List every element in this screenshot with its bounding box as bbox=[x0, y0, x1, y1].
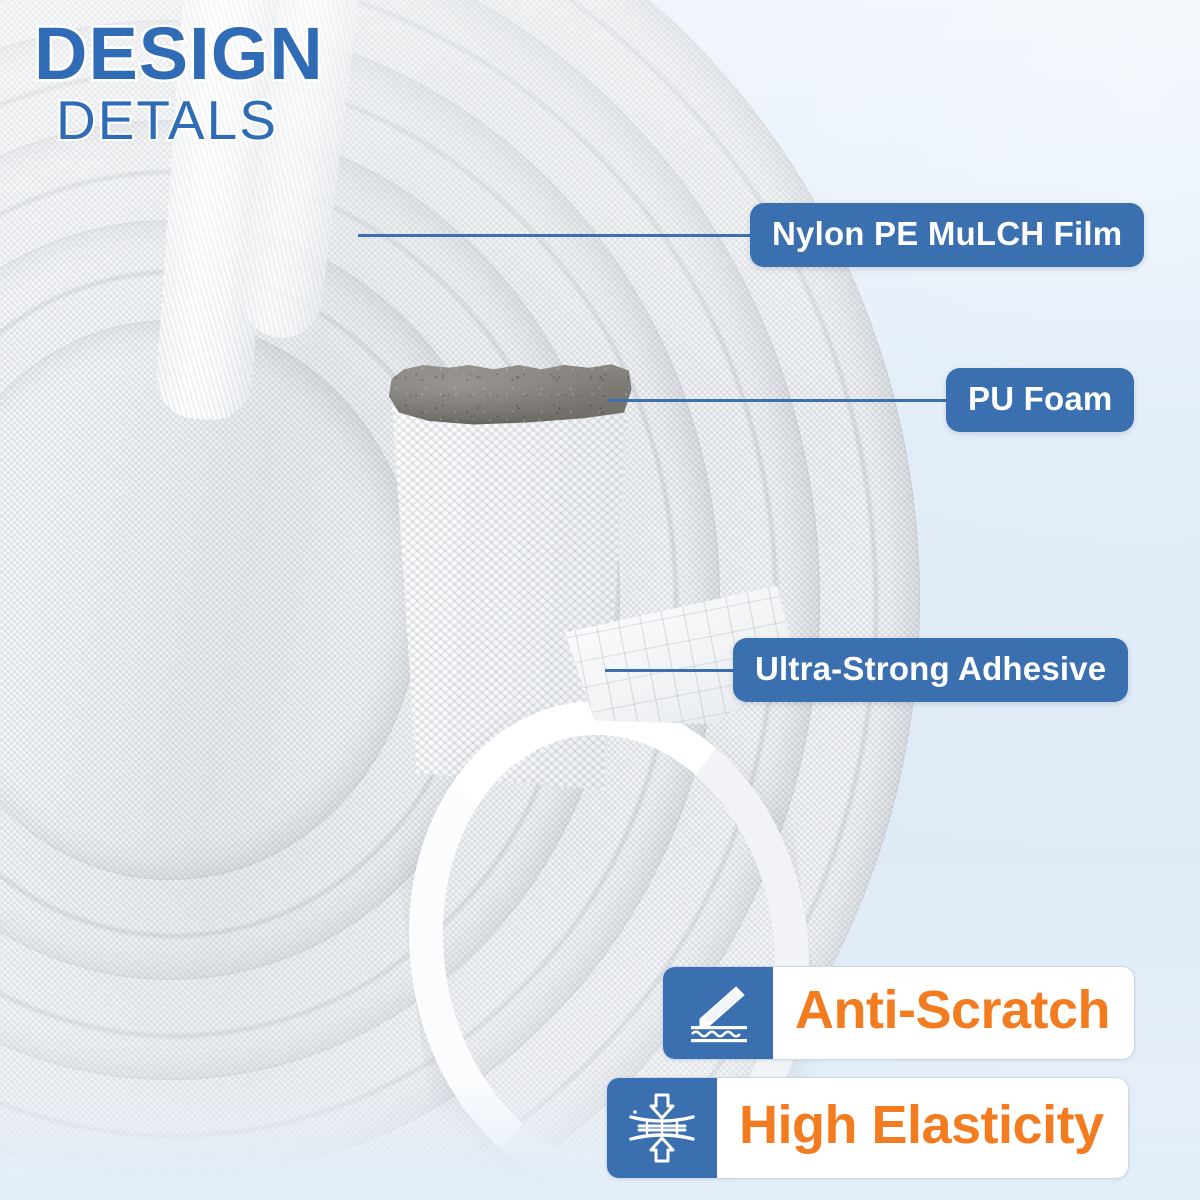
title-main: DESIGN bbox=[34, 18, 324, 89]
callout-ultra-strong-adhesive: Ultra-Strong Adhesive bbox=[605, 638, 1128, 702]
leader-line-icon bbox=[358, 234, 750, 237]
title-sub: DETALS bbox=[56, 93, 324, 148]
callout-label: PU Foam bbox=[946, 368, 1134, 432]
feature-label: Anti-Scratch bbox=[773, 967, 1134, 1059]
compression-arrows-icon bbox=[607, 1078, 717, 1178]
leader-line-icon bbox=[608, 399, 946, 402]
feature-badge-anti-scratch: Anti-Scratch bbox=[662, 966, 1135, 1060]
design-details-infographic: DESIGN DETALS Nylon PE MuLCH Film PU Foa… bbox=[0, 0, 1200, 1200]
feature-label: High Elasticity bbox=[717, 1078, 1128, 1178]
leader-line-icon bbox=[605, 669, 733, 672]
callout-label: Nylon PE MuLCH Film bbox=[750, 203, 1144, 267]
callout-label: Ultra-Strong Adhesive bbox=[733, 638, 1128, 702]
page-title: DESIGN DETALS bbox=[34, 18, 324, 148]
feature-badge-high-elasticity: High Elasticity bbox=[606, 1077, 1129, 1179]
blade-over-surface-icon bbox=[663, 967, 773, 1059]
callout-pu-foam: PU Foam bbox=[608, 368, 1134, 432]
callout-nylon-pe-mulch-film: Nylon PE MuLCH Film bbox=[358, 203, 1144, 267]
